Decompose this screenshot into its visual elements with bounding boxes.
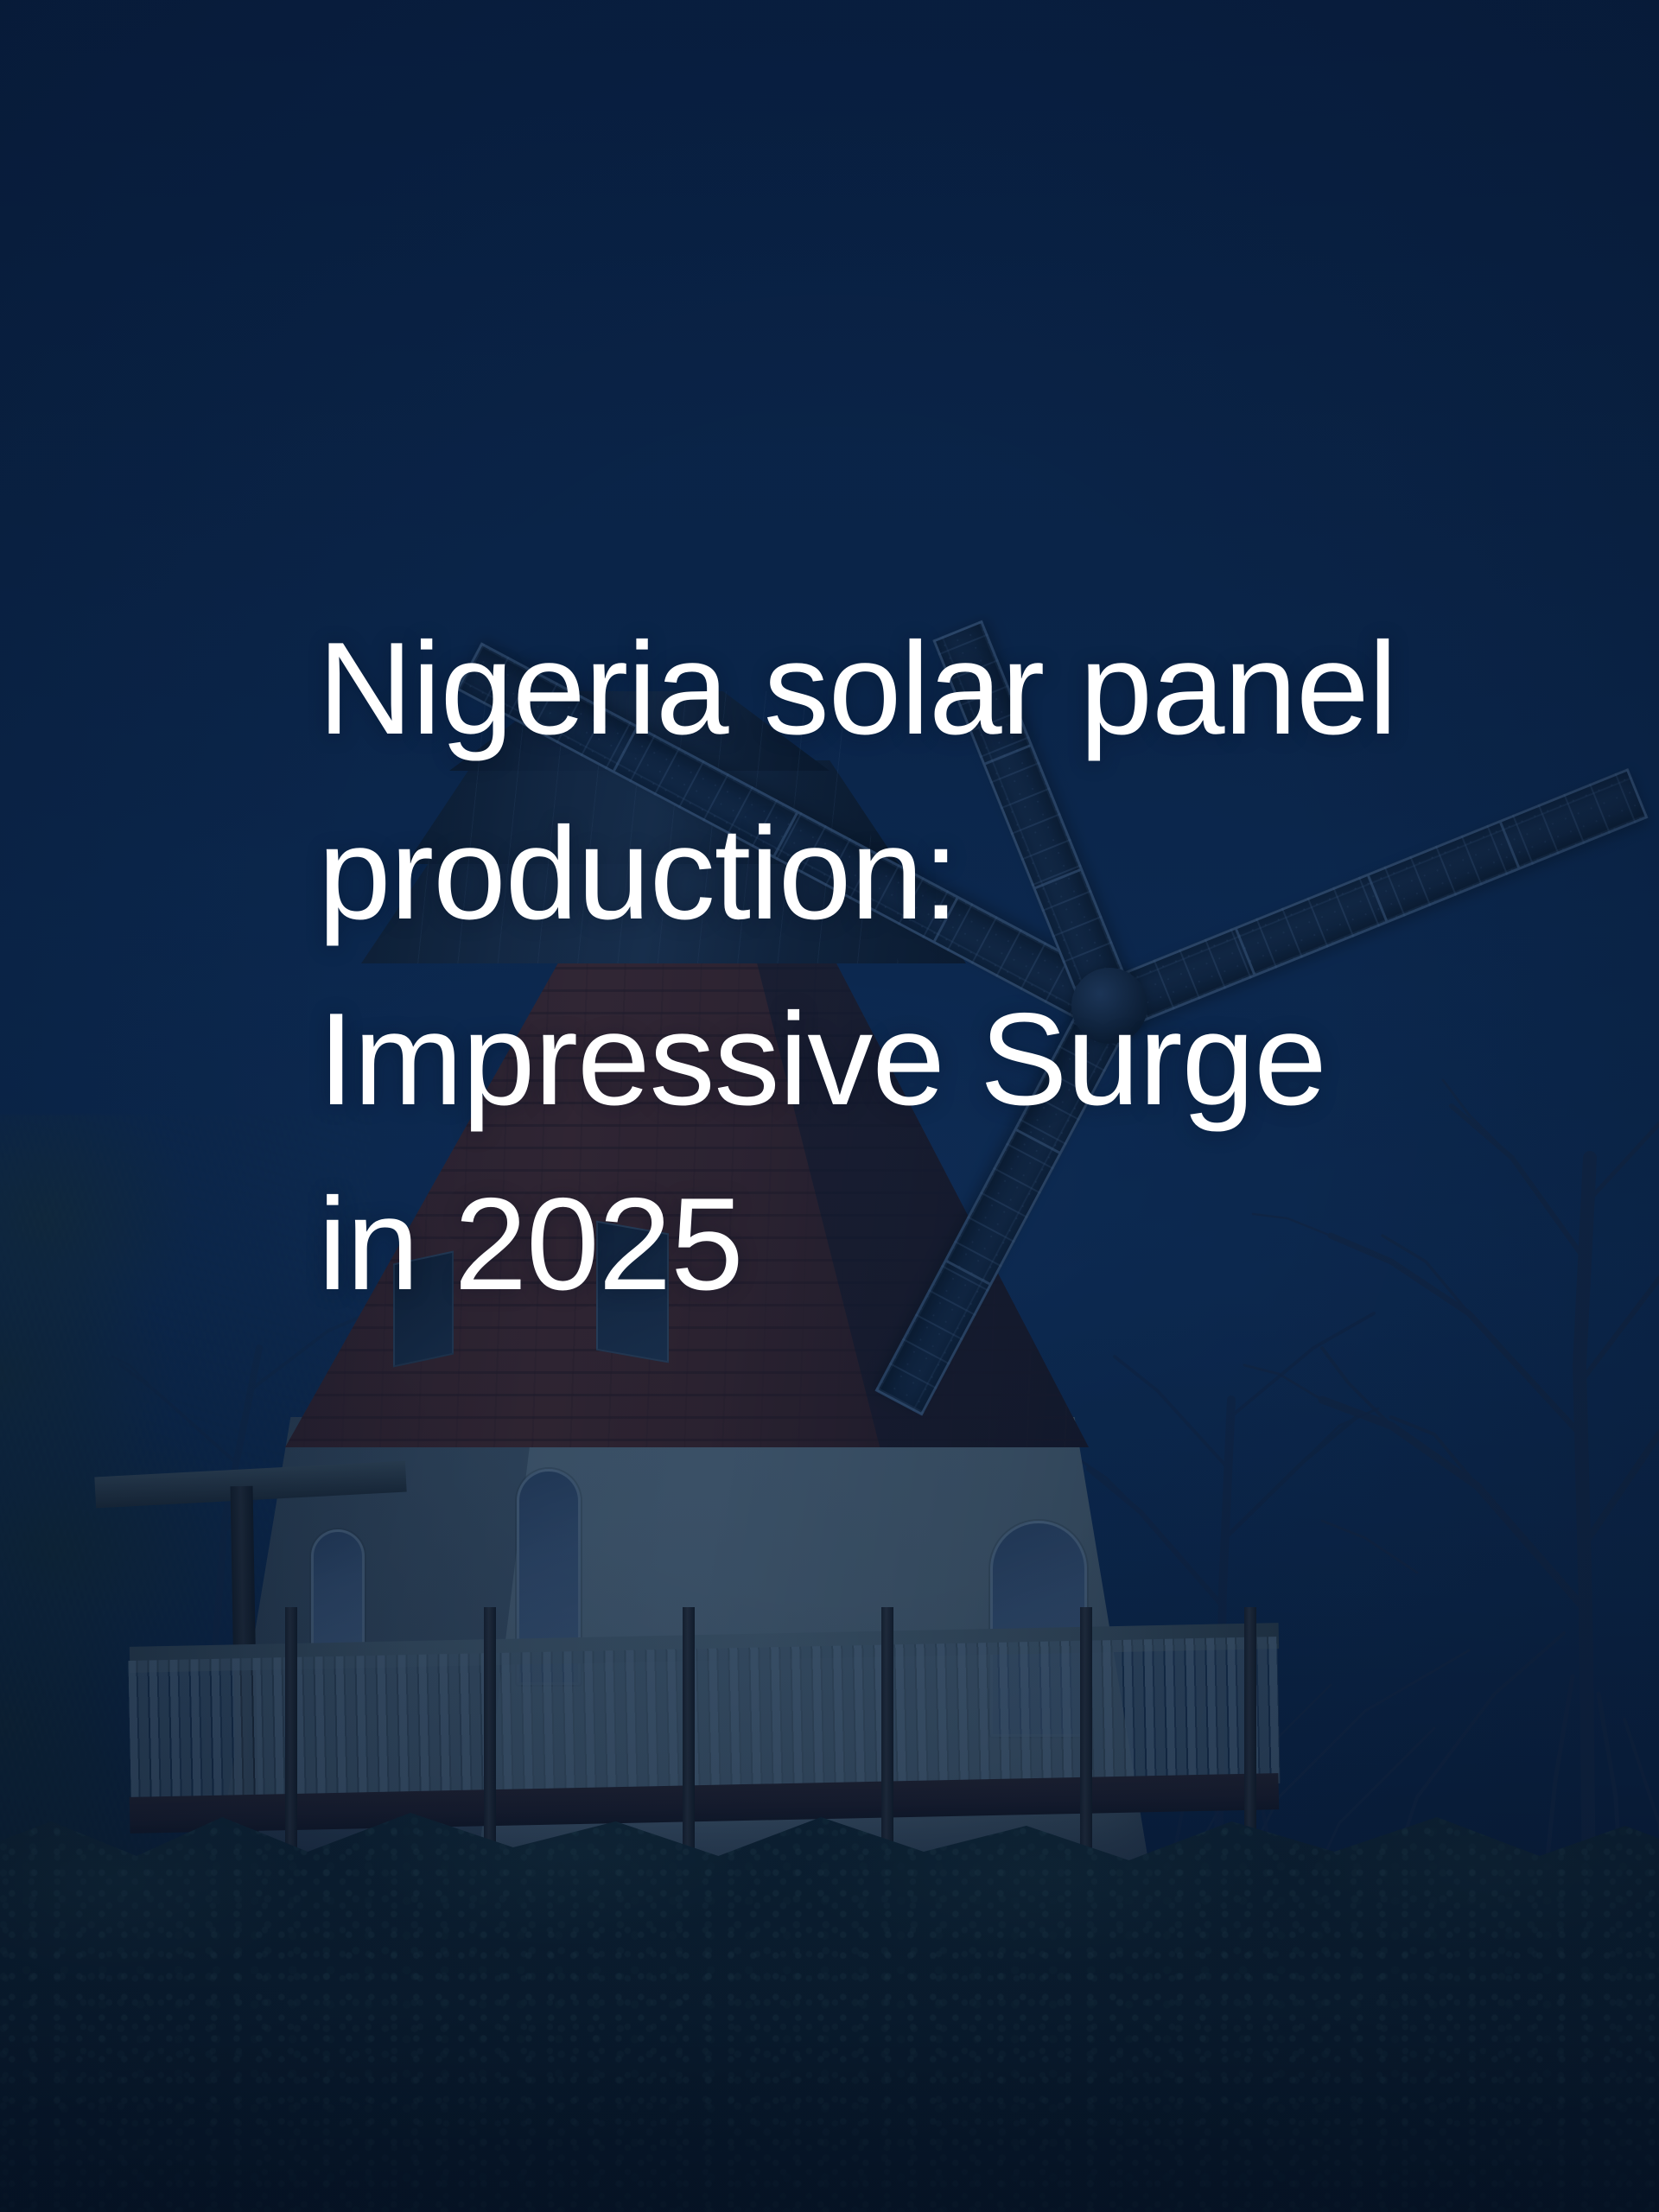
page-title: Nigeria solar panel production: Impressi… — [318, 596, 1441, 1337]
hero-card: Nigeria solar panel production: Impressi… — [0, 0, 1659, 2212]
